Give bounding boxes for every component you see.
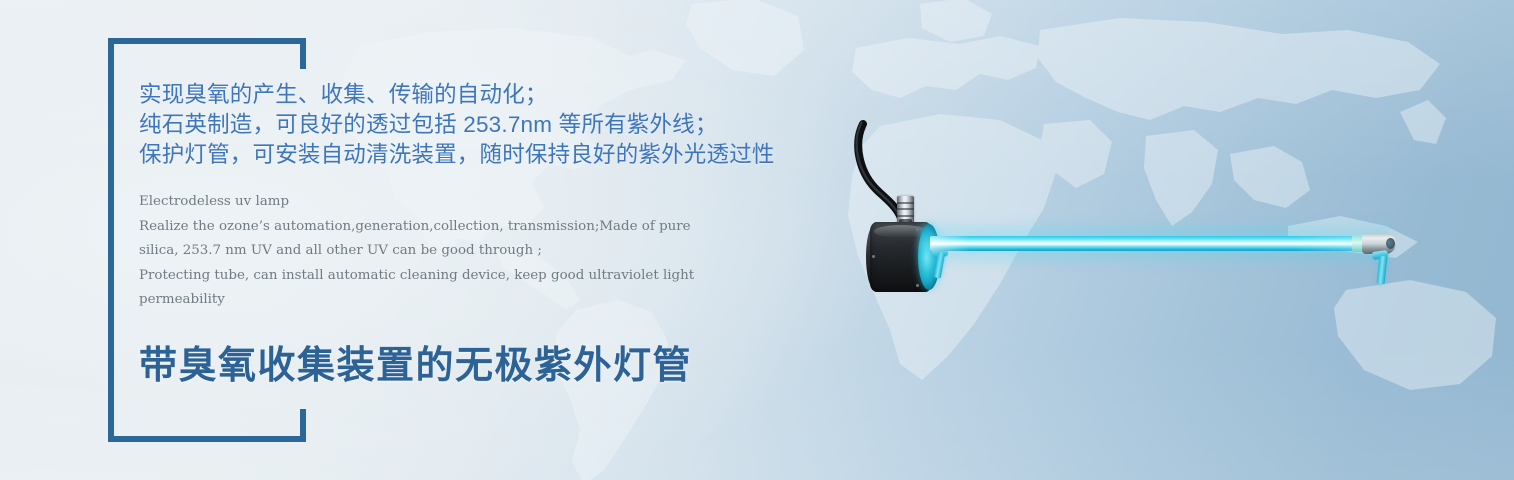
housing-screw [872,255,875,258]
product-headline: 带臭氧收集装置的无极紫外灯管 [139,343,839,389]
english-line-5: permeability [139,288,829,313]
banner-text-block: 实现臭氧的产生、收集、传输的自动化； 纯石英制造，可良好的透过包括 253.7n… [139,80,839,389]
uv-glow-tube [930,230,1396,257]
connector-ring [897,208,914,210]
english-line-3: silica, 253.7 nm UV and all other UV can… [139,239,829,264]
chinese-feature-list: 实现臭氧的产生、收集、传输的自动化； 纯石英制造，可良好的透过包括 253.7n… [139,80,839,170]
tube-end-tip [1386,238,1395,249]
chinese-feature-line-2: 纯石英制造，可良好的透过包括 253.7nm 等所有紫外线； [139,110,839,140]
connector-ring [897,215,914,217]
housing-screw [916,228,919,231]
english-line-1: Electrodeless uv lamp [139,190,829,215]
product-banner: 实现臭氧的产生、收集、传输的自动化； 纯石英制造，可良好的透过包括 253.7n… [0,0,1514,480]
chinese-feature-line-1: 实现臭氧的产生、收集、传输的自动化； [139,80,839,110]
chinese-feature-line-3: 保护灯管，可安装自动清洗装置，随时保持良好的紫外光透过性 [139,140,839,170]
connector-ring [897,202,914,204]
tube-body [930,236,1374,251]
english-line-4: Protecting tube, can install automatic c… [139,264,829,289]
english-description: Electrodeless uv lamp Realize the ozone’… [139,190,829,313]
english-line-2: Realize the ozone’s automation,generatio… [139,215,829,240]
housing-screw [916,284,919,287]
